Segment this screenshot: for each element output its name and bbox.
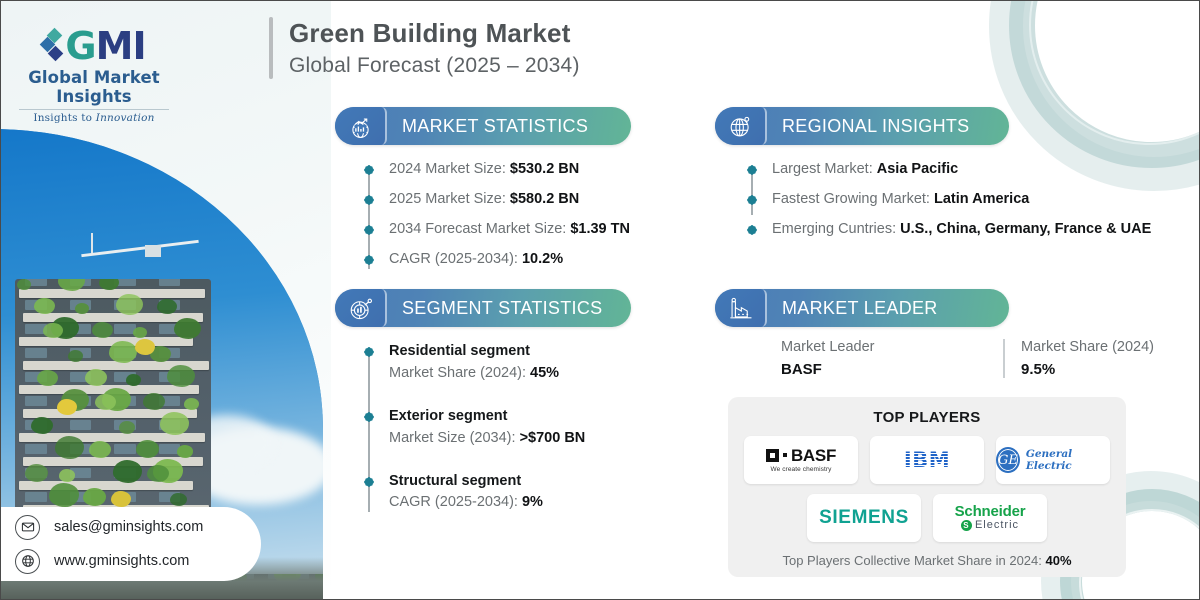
segment-metric-label: Market Share (2024): bbox=[389, 365, 530, 381]
list-item: Residential segment Market Share (2024):… bbox=[363, 341, 683, 384]
bullet-diamond-icon bbox=[363, 194, 375, 206]
top-players-title: TOP PLAYERS bbox=[728, 409, 1126, 426]
region-label: Largest Market: bbox=[772, 161, 877, 177]
chart-globe-icon bbox=[335, 107, 387, 145]
stat-label: 2025 Market Size: bbox=[389, 191, 510, 207]
infographic-canvas: GMI Global Market Insights Insights to I… bbox=[0, 0, 1200, 600]
collective-share-value: 40% bbox=[1045, 553, 1071, 568]
stat-value: $1.39 TN bbox=[570, 221, 630, 237]
bullet-diamond-icon bbox=[363, 164, 375, 176]
collective-share-label: Top Players Collective Market Share in 2… bbox=[782, 553, 1045, 568]
region-label: Emerging Cuntries: bbox=[772, 221, 900, 237]
gmi-logo: GMI Global Market Insights Insights to I… bbox=[15, 27, 173, 124]
stat-value: $580.2 BN bbox=[510, 191, 579, 207]
segment-metric-label: CAGR (2025-2034): bbox=[389, 494, 522, 510]
segment-pie-icon bbox=[335, 289, 387, 327]
top-players-panel: TOP PLAYERS BASF We create chemistry IBM… bbox=[728, 397, 1126, 577]
stat-value: 10.2% bbox=[522, 251, 563, 267]
top-players-footer: Top Players Collective Market Share in 2… bbox=[728, 553, 1126, 568]
list-item: 2034 Forecast Market Size: $1.39 TN bbox=[363, 219, 683, 240]
bullet-diamond-icon bbox=[746, 194, 758, 206]
market-share-block: Market Share (2024) 9.5% bbox=[1021, 337, 1154, 380]
section-header-regional-insights: REGIONAL INSIGHTS bbox=[715, 107, 1009, 145]
globe-pin-icon bbox=[715, 107, 767, 145]
section-header-market-leader: MARKET LEADER bbox=[715, 289, 1009, 327]
segment-metric-value: 9% bbox=[522, 494, 543, 510]
logo-tagline: Insights to Innovation bbox=[15, 112, 173, 124]
list-item: Largest Market: Asia Pacific bbox=[746, 159, 1200, 180]
market-leader-label: Market Leader bbox=[781, 337, 1003, 359]
regional-insights-list: Largest Market: Asia Pacific Fastest Gro… bbox=[746, 159, 1200, 249]
bullet-diamond-icon bbox=[363, 411, 375, 423]
section-header-market-statistics: MARKET STATISTICS bbox=[335, 107, 631, 145]
bullet-diamond-icon bbox=[746, 164, 758, 176]
region-value: Asia Pacific bbox=[877, 161, 958, 177]
stat-label: CAGR (2025-2034): bbox=[389, 251, 522, 267]
section-title-segment-statistics: SEGMENT STATISTICS bbox=[387, 298, 602, 319]
contact-website-text: www.gminsights.com bbox=[54, 553, 189, 569]
segment-statistics-list: Residential segment Market Share (2024):… bbox=[363, 341, 683, 522]
basf-wordmark: BASF bbox=[791, 447, 836, 464]
player-logo-schneider-electric: Schneider SElectric bbox=[933, 494, 1047, 542]
top-players-row-1: BASF We create chemistry IBM GE General … bbox=[728, 436, 1126, 484]
page-subtitle: Global Forecast (2025 – 2034) bbox=[289, 52, 580, 79]
bullet-diamond-icon bbox=[363, 476, 375, 488]
market-share-value: 9.5% bbox=[1021, 359, 1154, 380]
siemens-wordmark: SIEMENS bbox=[819, 507, 909, 529]
list-item: CAGR (2025-2034): 10.2% bbox=[363, 249, 683, 270]
logo-letters-mi: MI bbox=[96, 24, 146, 68]
region-value: Latin America bbox=[934, 191, 1029, 207]
factory-icon bbox=[715, 289, 767, 327]
section-header-segment-statistics: SEGMENT STATISTICS bbox=[335, 289, 631, 327]
region-value: U.S., China, Germany, France & UAE bbox=[900, 221, 1151, 237]
market-share-label: Market Share (2024) bbox=[1021, 337, 1154, 359]
schneider-electric-word: Electric bbox=[975, 520, 1019, 532]
player-logo-basf: BASF We create chemistry bbox=[744, 436, 858, 484]
schneider-mark-icon: S bbox=[961, 520, 972, 531]
contact-email-text: sales@gminsights.com bbox=[54, 519, 203, 535]
page-title: Green Building Market bbox=[289, 17, 580, 50]
stat-label: 2024 Market Size: bbox=[389, 161, 510, 177]
segment-name: Exterior segment bbox=[389, 406, 683, 428]
bullet-diamond-icon bbox=[363, 346, 375, 358]
basf-square-icon bbox=[766, 449, 779, 462]
section-title-market-leader: MARKET LEADER bbox=[767, 298, 938, 319]
segment-metric-label: Market Size (2034): bbox=[389, 430, 520, 446]
globe-icon bbox=[15, 549, 40, 574]
page-title-block: Green Building Market Global Forecast (2… bbox=[269, 17, 580, 79]
section-title-market-statistics: MARKET STATISTICS bbox=[387, 116, 588, 137]
ge-wordmark: General Electric bbox=[1026, 448, 1110, 472]
basf-tagline: We create chemistry bbox=[766, 467, 836, 474]
contact-email-row[interactable]: sales@gminsights.com bbox=[15, 515, 261, 540]
vertical-divider bbox=[1003, 339, 1005, 378]
bullet-diamond-icon bbox=[363, 224, 375, 236]
ge-monogram-icon: GE bbox=[996, 447, 1020, 473]
market-statistics-list: 2024 Market Size: $530.2 BN 2025 Market … bbox=[363, 159, 683, 279]
list-item: 2024 Market Size: $530.2 BN bbox=[363, 159, 683, 180]
list-item: Emerging Cuntries: U.S., China, Germany,… bbox=[746, 219, 1200, 240]
list-item: Exterior segment Market Size (2034): >$7… bbox=[363, 406, 683, 449]
top-players-row-2: SIEMENS Schneider SElectric bbox=[728, 494, 1126, 542]
segment-name: Structural segment bbox=[389, 471, 683, 493]
title-accent-bar bbox=[269, 17, 273, 79]
list-item: Structural segment CAGR (2025-2034): 9% bbox=[363, 471, 683, 514]
logo-diamond-icon bbox=[42, 29, 62, 63]
list-item: Fastest Growing Market: Latin America bbox=[746, 189, 1200, 210]
market-leader-value: BASF bbox=[781, 359, 1003, 380]
segment-metric-value: 45% bbox=[530, 365, 559, 381]
schneider-wordmark: Schneider bbox=[955, 504, 1026, 520]
player-logo-general-electric: GE General Electric bbox=[996, 436, 1110, 484]
basf-dot-icon bbox=[783, 453, 787, 457]
envelope-icon bbox=[15, 515, 40, 540]
logo-divider bbox=[19, 109, 169, 110]
stat-label: 2034 Forecast Market Size: bbox=[389, 221, 570, 237]
contact-website-row[interactable]: www.gminsights.com bbox=[15, 549, 261, 574]
bullet-diamond-icon bbox=[363, 254, 375, 266]
logo-letter-g: G bbox=[65, 24, 95, 68]
stat-value: $530.2 BN bbox=[510, 161, 579, 177]
segment-name: Residential segment bbox=[389, 341, 683, 363]
bullet-diamond-icon bbox=[746, 224, 758, 236]
section-title-regional-insights: REGIONAL INSIGHTS bbox=[767, 116, 969, 137]
logo-company-name: Global Market Insights bbox=[15, 68, 173, 106]
player-logo-siemens: SIEMENS bbox=[807, 494, 921, 542]
list-item: 2025 Market Size: $580.2 BN bbox=[363, 189, 683, 210]
market-leader-name-block: Market Leader BASF bbox=[781, 337, 1003, 380]
ibm-wordmark: IBM bbox=[904, 448, 950, 472]
player-logo-ibm: IBM bbox=[870, 436, 984, 484]
region-label: Fastest Growing Market: bbox=[772, 191, 934, 207]
market-leader-values: Market Leader BASF Market Share (2024) 9… bbox=[781, 337, 1200, 380]
contact-panel: sales@gminsights.com www.gminsights.com bbox=[0, 507, 261, 581]
segment-metric-value: >$700 BN bbox=[520, 430, 586, 446]
